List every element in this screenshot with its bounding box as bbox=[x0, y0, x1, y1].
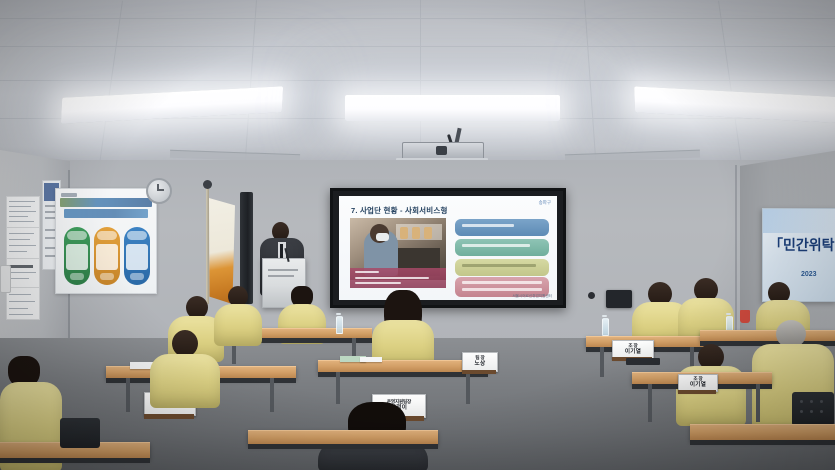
nameplate-stand bbox=[462, 370, 496, 374]
nameplate: 팀 장 노상 bbox=[462, 352, 498, 372]
bottle-cap bbox=[726, 313, 731, 315]
banner-graphic bbox=[763, 209, 835, 233]
wall-corner-right bbox=[735, 165, 737, 345]
desk-monitor[interactable] bbox=[606, 290, 632, 308]
flag-pole bbox=[206, 186, 209, 304]
photo-scene: 7. 사업단 현황 - 사회서비스형 송파구 bbox=[0, 0, 835, 470]
ceiling-led-panel bbox=[345, 95, 560, 121]
bottle-cap bbox=[602, 315, 607, 317]
notice-sheet bbox=[6, 227, 40, 259]
poster-headline-1 bbox=[60, 198, 152, 207]
desk-leg bbox=[756, 384, 760, 422]
desk-leg bbox=[466, 372, 470, 404]
slide-title: 7. 사업단 현황 - 사회서비스형 bbox=[351, 205, 448, 216]
keyboard[interactable] bbox=[626, 358, 660, 365]
wall-intercom[interactable] bbox=[0, 265, 11, 293]
info-box-teal bbox=[455, 239, 549, 256]
training-desk bbox=[248, 430, 438, 445]
desk-leg bbox=[600, 347, 604, 377]
blue-pill bbox=[124, 227, 150, 285]
water-bottle bbox=[602, 318, 609, 336]
posted-notice-sheets bbox=[6, 196, 40, 318]
desk-leg bbox=[648, 384, 652, 422]
banner-year: 2023 bbox=[801, 271, 817, 278]
red-cup bbox=[740, 310, 750, 323]
orange-pill bbox=[94, 227, 120, 285]
banner-title: 「민간위탁 bbox=[769, 235, 835, 255]
desk-leg bbox=[270, 378, 274, 412]
bottle-cap bbox=[336, 313, 341, 315]
green-pill bbox=[64, 227, 90, 285]
projection-screen: 7. 사업단 현황 - 사회서비스형 송파구 bbox=[330, 188, 566, 308]
desk-leg bbox=[336, 372, 340, 404]
info-box-olive bbox=[455, 259, 549, 276]
notice-sheet bbox=[6, 258, 40, 288]
notice-sheet bbox=[6, 196, 40, 228]
slide-org-logo: 송파구 bbox=[539, 200, 551, 206]
notice-sheet bbox=[6, 287, 40, 320]
nameplate-stand bbox=[678, 390, 716, 394]
poster-headline-2 bbox=[64, 209, 148, 218]
slide-photo-caption bbox=[350, 268, 446, 288]
attendee bbox=[214, 286, 262, 344]
presentation-slide: 7. 사업단 현황 - 사회서비스형 송파구 bbox=[339, 196, 557, 300]
stacking-chair[interactable] bbox=[60, 418, 100, 448]
flag-finial bbox=[203, 180, 212, 189]
desk-leg bbox=[126, 378, 130, 412]
projector-lens bbox=[436, 146, 447, 155]
stacking-chair[interactable] bbox=[792, 392, 834, 426]
water-bottle bbox=[336, 316, 343, 334]
slide-footer-logo: 서울시어르신취업지원센터 bbox=[512, 294, 552, 299]
wall-clock bbox=[146, 178, 172, 204]
speaker-ball bbox=[588, 292, 595, 299]
attendee bbox=[372, 290, 434, 366]
info-box-blue bbox=[455, 219, 549, 236]
health-labor-poster bbox=[55, 188, 157, 294]
training-desk bbox=[690, 424, 835, 441]
nameplate-stand bbox=[144, 414, 194, 419]
handout-paper bbox=[360, 357, 382, 362]
attendee bbox=[150, 330, 220, 406]
poster-logo bbox=[61, 193, 77, 197]
